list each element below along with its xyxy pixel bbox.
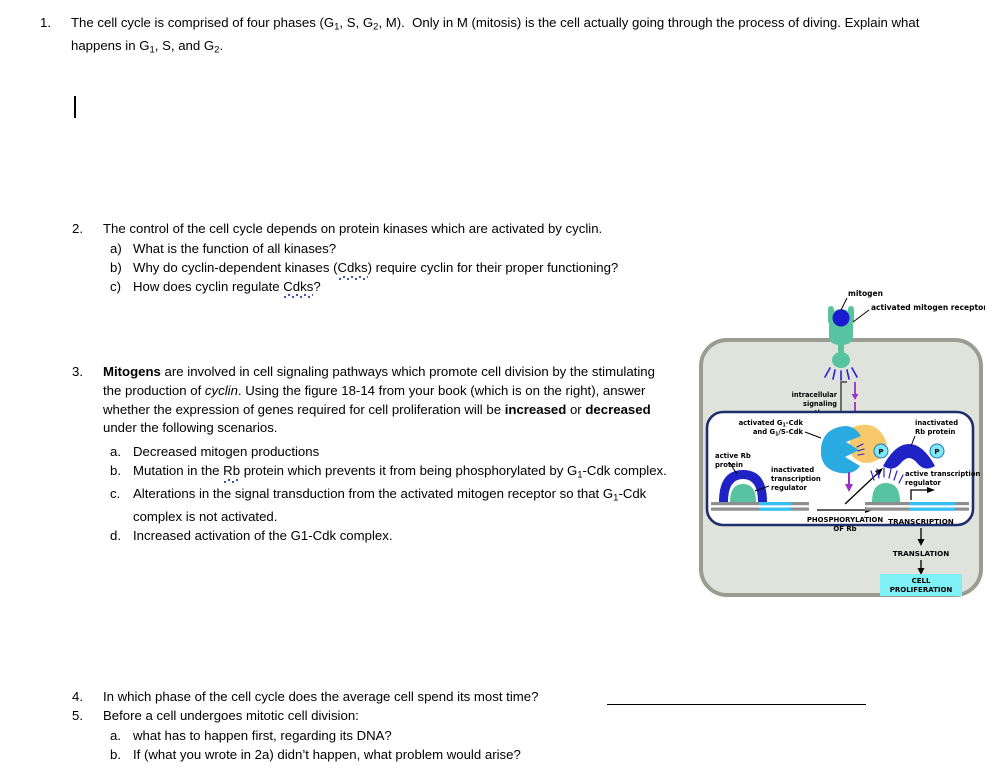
text-caret — [74, 96, 76, 118]
mitogen-leader — [841, 298, 847, 310]
misspelled-word-cdks: Cdks — [283, 278, 313, 297]
label-inactivated-rb-line1: inactivated — [915, 419, 958, 427]
figure-diagram: mitogen activated mitogen receptor intra… — [697, 286, 985, 600]
question-5-sub-b: b. If (what you wrote in 2a) didn’t happ… — [110, 746, 910, 765]
label-translation: TRANSLATION — [893, 549, 949, 558]
label-active-rb-line2: protein — [715, 461, 743, 469]
question-4-number: 4. — [72, 688, 103, 707]
question-2-sub-a-text: What is the function of all kinases? — [133, 240, 910, 259]
question-1-number: 1. — [40, 14, 71, 60]
question-3-text: Mitogens are involved in cell signaling … — [103, 363, 672, 438]
question-3-sub-d: d. Increased activation of the G1-Cdk co… — [110, 527, 695, 546]
question-3-sub-a: a. Decreased mitogen productions — [110, 443, 695, 462]
label-active-regulator-line1: active transcription — [905, 470, 980, 478]
question-3-subitems: a. Decreased mitogen productions b. Muta… — [110, 443, 695, 546]
label-phosphorylation-line1: PHOSPHORYLATION — [807, 516, 884, 524]
misspelled-word-rb: Rb — [223, 462, 240, 481]
question-5-sub-b-text: If (what you wrote in 2a) didn’t happen,… — [133, 746, 910, 765]
question-3-sub-d-label: d. — [110, 527, 133, 546]
question-5-sub-a-text: what has to happen first, regarding its … — [133, 727, 910, 746]
question-5-number: 5. — [72, 707, 103, 726]
question-3-sub-a-label: a. — [110, 443, 133, 462]
label-phosphorylation-line2: OF Rb — [833, 525, 856, 533]
question-5-sub-a-label: a. — [110, 727, 133, 746]
label-inactivated-regulator-line3: regulator — [771, 484, 808, 492]
question-2-sub-a-label: a) — [110, 240, 133, 259]
question-3-sub-c-label: c. — [110, 485, 133, 527]
question-2-sub-b: b) Why do cyclin-dependent kinases (Cdks… — [110, 259, 910, 278]
question-1-text: The cell cycle is comprised of four phas… — [71, 14, 920, 60]
question-2-sub-c-label: c) — [110, 278, 133, 297]
question-2-sub-b-label: b) — [110, 259, 133, 278]
answer-blank-line[interactable] — [607, 704, 866, 705]
question-3-sub-b: b. Mutation in the Rb protein which prev… — [110, 462, 695, 485]
question-2-sub-b-text: Why do cyclin-dependent kinases (Cdks) r… — [133, 259, 910, 278]
question-3-sub-b-label: b. — [110, 462, 133, 485]
question-3-sub-d-text: Increased activation of the G1-Cdk compl… — [133, 527, 695, 546]
question-2-number: 2. — [72, 220, 103, 239]
question-3-sub-c-text: Alterations in the signal transduction f… — [133, 485, 695, 527]
phosphate-group-left-icon: P — [874, 444, 888, 458]
mitogen-ball — [833, 310, 850, 327]
label-transcription: TRANSCRIPTION — [888, 517, 954, 526]
question-5-text: Before a cell undergoes mitotic cell div… — [103, 707, 922, 726]
question-3-sub-b-text: Mutation in the Rb protein which prevent… — [133, 462, 695, 485]
receptor-leader — [853, 310, 869, 322]
question-2-text: The control of the cell cycle depends on… — [103, 220, 852, 239]
question-3-sub-c: c. Alterations in the signal transductio… — [110, 485, 695, 527]
question-5-sub-a: a. what has to happen first, regarding i… — [110, 727, 910, 746]
question-5-subitems: a. what has to happen first, regarding i… — [110, 727, 910, 765]
label-intracellular-line1: intracellular — [792, 391, 838, 399]
question-5: 5. Before a cell undergoes mitotic cell … — [72, 707, 922, 726]
label-active-rb-line1: active Rb — [715, 452, 751, 460]
label-mitogen: mitogen — [848, 289, 883, 298]
label-intracellular-line2: signaling — [803, 400, 837, 408]
svg-text:P: P — [934, 448, 939, 456]
label-cell-proliferation-line1: CELL — [912, 577, 931, 585]
label-cell-proliferation-line2: PROLIFERATION — [890, 586, 953, 594]
label-inactivated-regulator-line1: inactivated — [771, 466, 814, 474]
question-3-sub-a-text: Decreased mitogen productions — [133, 443, 695, 462]
phosphate-group-right-icon: P — [930, 444, 944, 458]
label-active-regulator-line2: regulator — [905, 479, 942, 487]
label-inactivated-rb-line2: Rb protein — [915, 428, 956, 436]
figure-18-14: mitogen activated mitogen receptor intra… — [697, 286, 985, 600]
label-inactivated-regulator-line2: transcription — [771, 475, 821, 483]
question-2-sub-a: a) What is the function of all kinases? — [110, 240, 910, 259]
question-3: 3. Mitogens are involved in cell signali… — [72, 363, 672, 438]
label-activated-mitogen-receptor: activated mitogen receptor — [871, 303, 985, 312]
question-2: 2. The control of the cell cycle depends… — [72, 220, 852, 239]
svg-text:P: P — [878, 448, 883, 456]
misspelled-word-cdks: Cdks — [338, 259, 368, 278]
question-3-number: 3. — [72, 363, 103, 438]
worksheet-page: 1. The cell cycle is comprised of four p… — [0, 0, 991, 771]
question-5-sub-b-label: b. — [110, 746, 133, 765]
question-1: 1. The cell cycle is comprised of four p… — [40, 14, 920, 60]
